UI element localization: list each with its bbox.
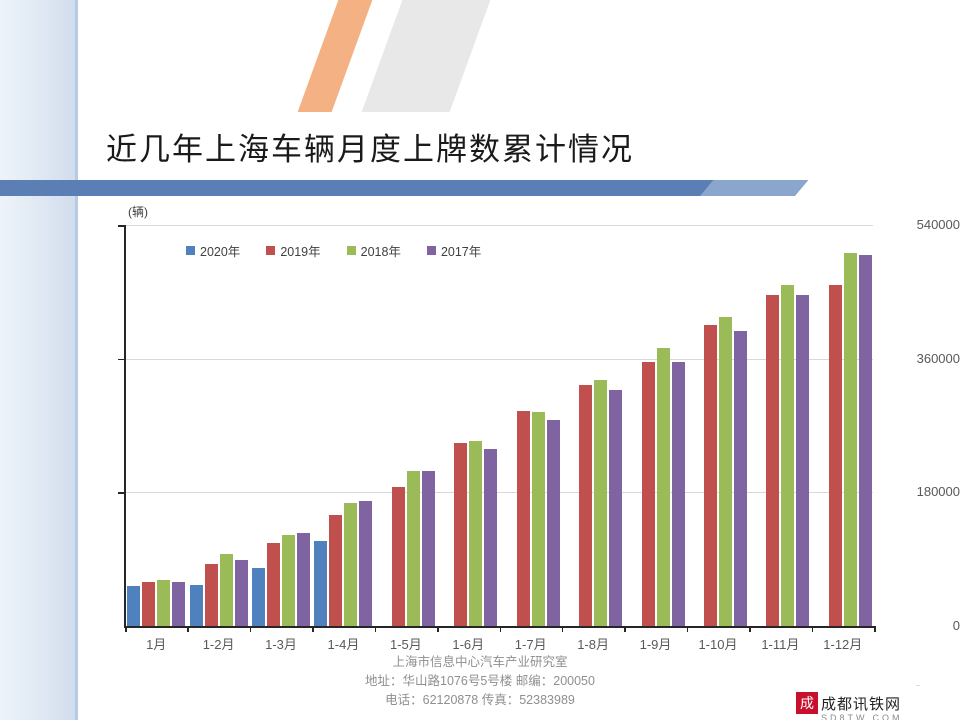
chart-bar [547,420,560,626]
x-tickmark [437,626,439,632]
chart-bar [359,501,372,626]
chart-bar [829,285,842,626]
x-axis-tick-label: 1-3月 [250,634,312,653]
x-axis-tick-label: 1月 [125,634,187,653]
x-axis-tick-label: 1-2月 [187,634,249,653]
chart-bar [704,325,717,626]
x-axis-tick-label: 1-8月 [562,634,624,653]
page-title: 近几年上海车辆月度上牌数累计情况 [106,124,634,169]
legend-swatch-icon [347,246,356,255]
bar-group [562,225,624,626]
bar-group [749,225,811,626]
x-axis-tick-label: 1-5月 [375,634,437,653]
legend-item: 2017年 [427,241,481,260]
x-tickmark [375,626,377,632]
chart-bar [252,568,265,626]
chart-bar [220,554,233,626]
chart-bar [657,348,670,626]
footer-line-1: 上海市信息中心汽车产业研究室 [0,653,960,672]
chart-bar [282,535,295,626]
chart-bar [859,255,872,626]
bar-group [187,225,249,626]
chart-bar [329,515,342,626]
chart-bar [484,449,497,626]
axis-unit-label: (辆) [128,203,148,220]
x-axis-tick-label: 1-6月 [437,634,499,653]
legend-item: 2018年 [347,241,401,260]
legend-label: 2019年 [280,241,320,260]
bar-group [812,225,874,626]
chart-bar [579,385,592,626]
chart-bar [642,362,655,626]
bar-group [312,225,374,626]
x-tickmark [250,626,252,632]
x-tickmark [874,626,876,632]
title-underline-tail [700,180,808,196]
x-tickmark [500,626,502,632]
chart-bar [297,533,310,626]
legend-label: 2017年 [441,241,481,260]
x-axis-tick-label: 1-4月 [312,634,374,653]
chart-bar [454,443,467,626]
legend-item: 2019年 [266,241,320,260]
x-axis-tick-label: 1-7月 [500,634,562,653]
x-tickmark [125,626,127,632]
bar-group [687,225,749,626]
chart-bar [796,295,809,626]
chart-bar [517,411,530,626]
chart-bar [344,503,357,626]
x-tickmark [687,626,689,632]
chart-bar [781,285,794,626]
title-underline [44,180,744,196]
bar-group [250,225,312,626]
chart-bar [235,560,248,626]
chart-bar [469,441,482,626]
plot-area [125,225,874,626]
bar-group [125,225,187,626]
slide: 近几年上海车辆月度上牌数累计情况 (辆) 0180000360000540000… [0,0,960,720]
legend-item: 2020年 [186,241,240,260]
chart-bar [407,471,420,626]
chart-bar [844,253,857,626]
chart-bar [422,471,435,626]
chart-bar [532,412,545,626]
bar-group [624,225,686,626]
chart-bar [157,580,170,626]
chart-bar [314,541,327,626]
x-axis-tick-label: 1-12月 [812,634,874,653]
chart-bar [190,585,203,626]
chart-bar [609,390,622,626]
watermark-badge: 成 [796,692,818,714]
chart-bar [672,362,685,626]
chart-bar [127,586,140,626]
chart-bar [734,331,747,626]
chart-bar [594,380,607,626]
chart-bar [205,564,218,626]
legend-swatch-icon [186,246,195,255]
chart-bar [766,295,779,626]
x-axis-tick-label: 1-10月 [687,634,749,653]
bar-group [500,225,562,626]
legend-label: 2020年 [200,241,240,260]
x-tickmark [812,626,814,632]
chart-bar [719,317,732,626]
x-tickmark [624,626,626,632]
legend-swatch-icon [266,246,275,255]
chart-bar [172,582,185,626]
chart-bar [392,487,405,626]
x-tickmark [749,626,751,632]
watermark: 成 成都讯铁网 SD8TW.COM [796,686,952,720]
x-axis-tick-label: 1-9月 [624,634,686,653]
x-tickmark [312,626,314,632]
chart-bar [267,543,280,626]
watermark-text: 成都讯铁网 [821,693,901,714]
bar-group [437,225,499,626]
legend-label: 2018年 [361,241,401,260]
legend-swatch-icon [427,246,436,255]
top-decorative-band [78,0,960,112]
title-bar: 近几年上海车辆月度上牌数累计情况 [78,112,960,180]
chart-legend: 2020年2019年2018年2017年 [186,241,507,260]
watermark-subtext: SD8TW.COM [821,713,903,720]
chart-bar [142,582,155,626]
bar-group [375,225,437,626]
x-axis-tick-label: 1-11月 [749,634,811,653]
x-tickmark [187,626,189,632]
x-tickmark [562,626,564,632]
